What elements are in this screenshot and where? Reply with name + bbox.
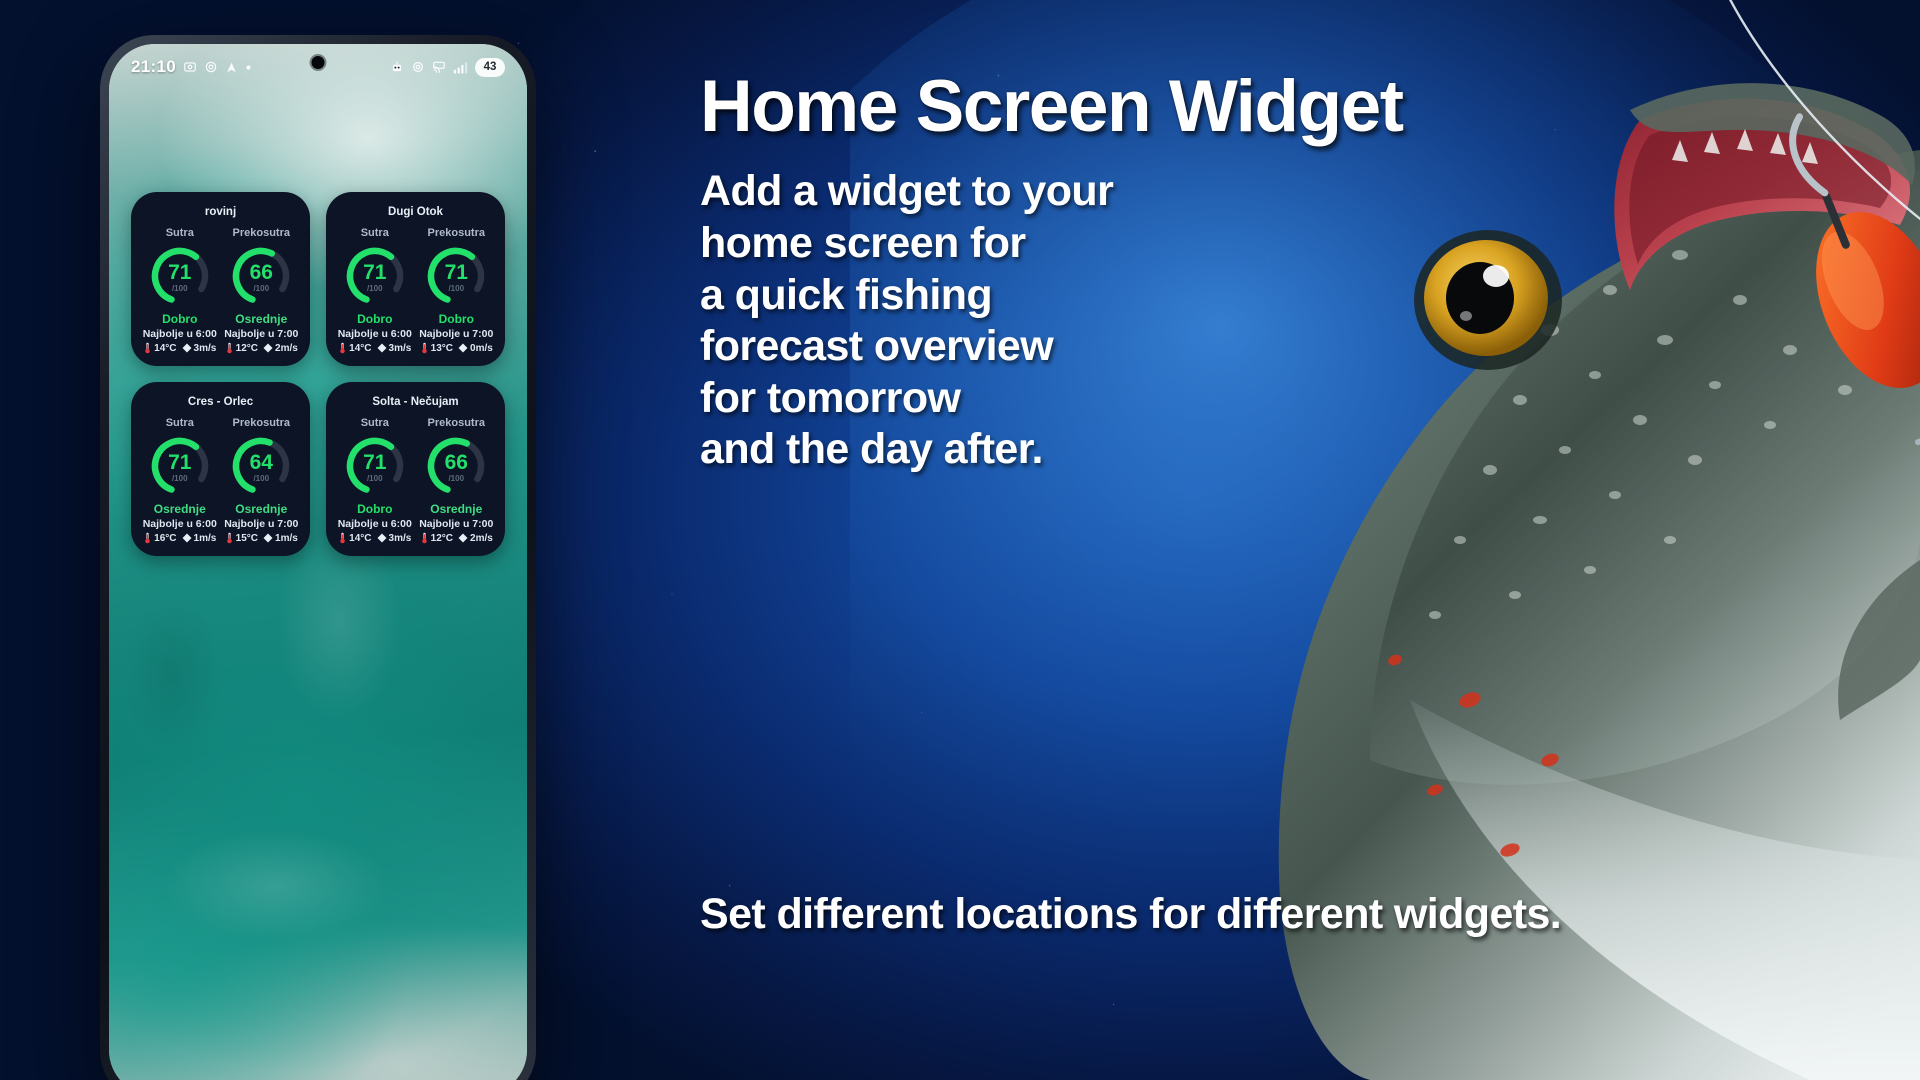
temperature-stat: 16°C [143,532,176,544]
wind-stat: 3m/s [377,533,412,544]
score-max: /100 [172,284,188,293]
wind-stat: 1m/s [263,533,298,544]
body-copy-line: home screen for [700,218,1600,270]
wind-value: 0m/s [470,343,493,354]
rating-label: Dobro [416,312,498,326]
score-value: 71 [445,262,468,283]
dot-icon [245,64,252,71]
score-max: /100 [367,284,383,293]
day-label: Sutra [139,227,221,239]
temperature-value: 14°C [349,343,371,354]
day-label: Sutra [334,227,416,239]
wind-icon [377,343,387,353]
wind-value: 1m/s [194,533,217,544]
widget-location-title: Šolta - Nečujam [334,396,497,408]
weather-stats: 14°C 3m/s [334,342,416,354]
gauge-value: 66 /100 [221,245,303,307]
widget-day-column[interactable]: Sutra 71 /100 Dobro Najbolje u 6:00 14°C… [334,227,416,354]
battery-indicator: 43 [475,58,505,77]
wind-value: 3m/s [194,343,217,354]
ring-icon [411,60,425,74]
score-value: 71 [168,452,191,473]
widget-day-column[interactable]: Prekosutra 64 /100 Osrednje Najbolje u 7… [221,417,303,544]
best-time-label: Najbolje u 6:00 [139,328,221,340]
gauge-value: 71 /100 [334,435,416,497]
thermometer-icon [143,342,152,354]
forecast-widget[interactable]: Šolta - Nečujam Sutra 71 /100 Dobro Najb… [326,382,505,556]
rating-label: Dobro [139,312,221,326]
temperature-value: 14°C [349,533,371,544]
footer-copy: Set different locations for different wi… [700,890,1561,939]
body-copy-line: forecast overview [700,321,1600,373]
temperature-stat: 15°C [225,532,258,544]
temperature-value: 13°C [431,343,453,354]
widget-grid: rovinj Sutra 71 /100 Dobro Najbolje u 6:… [131,192,505,556]
camera-icon [204,60,218,74]
temperature-stat: 13°C [420,342,453,354]
status-bar-right: 43 [390,58,505,77]
phone-mockup: 21:10 [100,35,536,1080]
score-value: 71 [363,262,386,283]
best-time-label: Najbolje u 6:00 [334,518,416,530]
body-copy-line: a quick fishing [700,270,1600,322]
temperature-value: 12°C [431,533,453,544]
wind-icon [182,533,192,543]
day-label: Prekosutra [416,417,498,429]
temperature-value: 15°C [236,533,258,544]
marketing-copy: Home Screen Widget Add a widget to yourh… [700,70,1600,476]
body-copy: Add a widget to yourhome screen fora qui… [700,166,1600,476]
best-time-label: Najbolje u 7:00 [221,518,303,530]
score-value: 66 [445,452,468,473]
widget-location-title: Dugi Otok [334,206,497,218]
weather-stats: 15°C 1m/s [221,532,303,544]
thermometer-icon [225,342,234,354]
body-copy-line: and the day after. [700,424,1600,476]
wind-icon [458,533,468,543]
thermometer-icon [143,532,152,544]
day-label: Prekosutra [221,417,303,429]
temperature-value: 14°C [154,343,176,354]
signal-icon [453,61,468,74]
wind-icon [458,343,468,353]
score-value: 66 [250,262,273,283]
wind-value: 2m/s [470,533,493,544]
day-label: Prekosutra [221,227,303,239]
thermometer-icon [420,532,429,544]
cast-icon [432,60,446,74]
temperature-stat: 14°C [143,342,176,354]
temperature-stat: 14°C [338,342,371,354]
status-bar-left: 21:10 [131,57,252,77]
temperature-value: 16°C [154,533,176,544]
gauge-value: 71 /100 [139,245,221,307]
navigation-icon [225,61,238,74]
rating-label: Osrednje [221,312,303,326]
wind-stat: 2m/s [458,533,493,544]
forecast-widget[interactable]: rovinj Sutra 71 /100 Dobro Najbolje u 6:… [131,192,310,366]
rating-label: Osrednje [139,502,221,516]
thermometer-icon [420,342,429,354]
weather-stats: 14°C 3m/s [334,532,416,544]
wind-icon [263,343,273,353]
temperature-value: 12°C [236,343,258,354]
wind-stat: 1m/s [182,533,217,544]
temperature-stat: 12°C [225,342,258,354]
rating-label: Osrednje [416,502,498,516]
wind-stat: 0m/s [458,343,493,354]
best-time-label: Najbolje u 7:00 [416,518,498,530]
rating-label: Dobro [334,312,416,326]
headline: Home Screen Widget [700,70,1600,144]
best-time-label: Najbolje u 6:00 [334,328,416,340]
wind-stat: 2m/s [263,343,298,354]
score-value: 71 [363,452,386,473]
gauge-value: 66 /100 [416,435,498,497]
front-camera-punchhole [312,56,325,69]
widget-day-column[interactable]: Prekosutra 66 /100 Osrednje Najbolje u 7… [416,417,498,544]
weather-stats: 13°C 0m/s [416,342,498,354]
gauge-value: 71 /100 [416,245,498,307]
wind-value: 3m/s [389,533,412,544]
score-max: /100 [253,284,269,293]
weather-stats: 14°C 3m/s [139,342,221,354]
phone-screen: 21:10 [109,44,527,1080]
score-value: 64 [250,452,273,473]
wind-icon [182,343,192,353]
widget-day-column[interactable]: Sutra 71 /100 Dobro Najbolje u 6:00 14°C… [334,417,416,544]
score-max: /100 [172,474,188,483]
screenshot-icon [183,60,197,74]
gauge-value: 64 /100 [221,435,303,497]
score-max: /100 [448,474,464,483]
widget-day-column[interactable]: Sutra 71 /100 Osrednje Najbolje u 6:00 1… [139,417,221,544]
score-max: /100 [253,474,269,483]
gauge-value: 71 /100 [139,435,221,497]
temperature-stat: 14°C [338,532,371,544]
weather-stats: 12°C 2m/s [416,532,498,544]
wind-icon [263,533,273,543]
forecast-widget[interactable]: Cres - Orlec Sutra 71 /100 Osrednje Najb… [131,382,310,556]
temperature-stat: 12°C [420,532,453,544]
score-value: 71 [168,262,191,283]
wind-icon [377,533,387,543]
widget-day-column[interactable]: Prekosutra 66 /100 Osrednje Najbolje u 7… [221,227,303,354]
rating-label: Dobro [334,502,416,516]
widget-location-title: rovinj [139,206,302,218]
body-copy-line: Add a widget to your [700,166,1600,218]
wind-stat: 3m/s [377,343,412,354]
best-time-label: Najbolje u 7:00 [416,328,498,340]
robot-icon [390,60,404,74]
wind-stat: 3m/s [182,343,217,354]
wind-value: 2m/s [275,343,298,354]
best-time-label: Najbolje u 7:00 [221,328,303,340]
thermometer-icon [225,532,234,544]
widget-day-column[interactable]: Sutra 71 /100 Dobro Najbolje u 6:00 14°C… [139,227,221,354]
score-max: /100 [367,474,383,483]
weather-stats: 12°C 2m/s [221,342,303,354]
wind-value: 3m/s [389,343,412,354]
thermometer-icon [338,342,347,354]
rating-label: Osrednje [221,502,303,516]
best-time-label: Najbolje u 6:00 [139,518,221,530]
day-label: Prekosutra [416,227,498,239]
widget-location-title: Cres - Orlec [139,396,302,408]
thermometer-icon [338,532,347,544]
widget-day-column[interactable]: Prekosutra 71 /100 Dobro Najbolje u 7:00… [416,227,498,354]
wind-value: 1m/s [275,533,298,544]
weather-stats: 16°C 1m/s [139,532,221,544]
forecast-widget[interactable]: Dugi Otok Sutra 71 /100 Dobro Najbolje u… [326,192,505,366]
body-copy-line: for tomorrow [700,373,1600,425]
gauge-value: 71 /100 [334,245,416,307]
day-label: Sutra [334,417,416,429]
day-label: Sutra [139,417,221,429]
status-clock: 21:10 [131,57,176,77]
score-max: /100 [448,284,464,293]
